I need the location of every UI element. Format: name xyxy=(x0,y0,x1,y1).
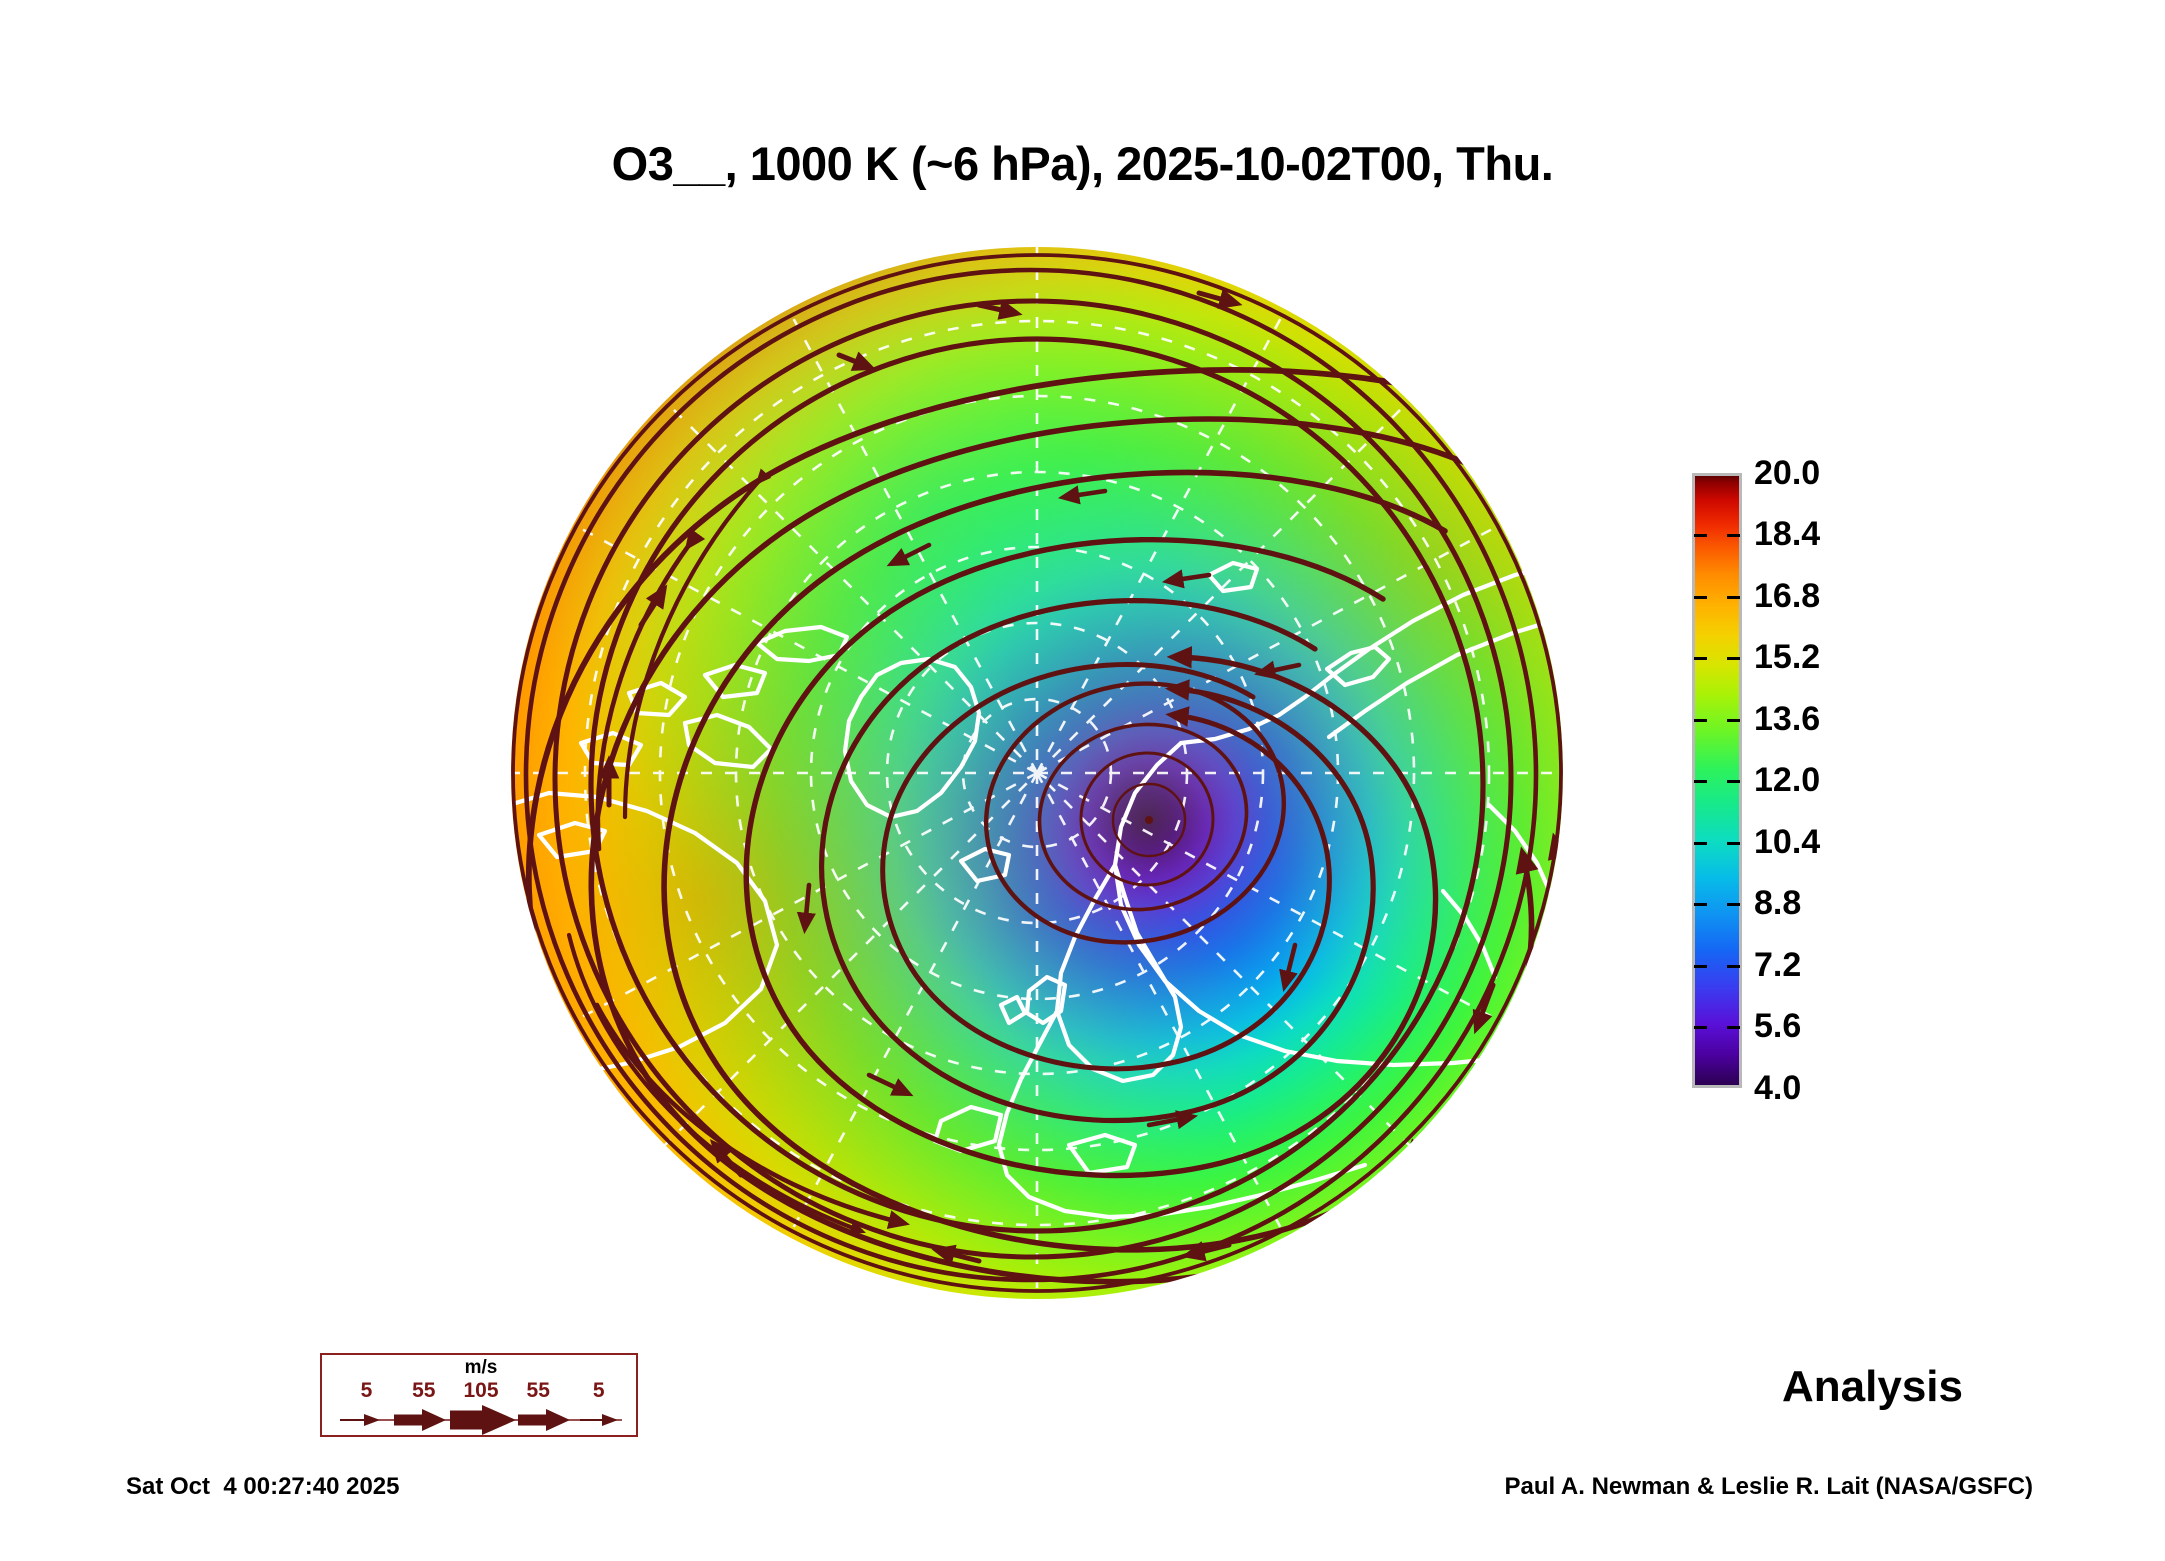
vortex-center-marker xyxy=(1145,816,1153,824)
wind-key-value-3: 55 xyxy=(527,1379,550,1403)
page-title: O3__, 1000 K (~6 hPa), 2025-10-02T00, Th… xyxy=(0,136,2165,191)
wind-speed-key[interactable]: m/s 5 55 105 55 5 xyxy=(320,1353,638,1437)
analysis-label: Analysis xyxy=(1782,1362,1963,1412)
colorbar-label-2: 16.8 xyxy=(1754,574,1820,618)
colorbar-labels: 20.0 18.4 16.8 15.2 13.6 12.0 10.4 8.8 7… xyxy=(1754,451,1934,1111)
wind-key-value-0: 5 xyxy=(361,1379,373,1403)
colorbar-label-10: 4.0 xyxy=(1754,1066,1801,1110)
colorbar-label-7: 8.8 xyxy=(1754,881,1801,925)
wind-key-arrow-scale xyxy=(322,1405,640,1435)
colorbar[interactable]: 20.0 18.4 16.8 15.2 13.6 12.0 10.4 8.8 7… xyxy=(1692,473,1992,1093)
colorbar-label-9: 5.6 xyxy=(1754,1004,1801,1048)
wind-key-value-4: 5 xyxy=(593,1379,605,1403)
colorbar-label-4: 13.6 xyxy=(1754,697,1820,741)
map-field-group xyxy=(509,245,1565,1301)
colorbar-label-8: 7.2 xyxy=(1754,943,1801,987)
wind-key-values: 5 55 105 55 5 xyxy=(322,1379,640,1405)
generation-timestamp: Sat Oct 4 00:27:40 2025 xyxy=(126,1473,400,1501)
wind-key-value-2: 105 xyxy=(463,1379,498,1403)
colorbar-label-0: 20.0 xyxy=(1754,451,1820,495)
colorbar-label-3: 15.2 xyxy=(1754,635,1820,679)
author-credit: Paul A. Newman & Leslie R. Lait (NASA/GS… xyxy=(1504,1473,2033,1501)
wind-key-value-1: 55 xyxy=(412,1379,435,1403)
colorbar-ticks xyxy=(1692,473,1742,1088)
figure-canvas: O3__, 1000 K (~6 hPa), 2025-10-02T00, Th… xyxy=(0,0,2165,1561)
polar-map[interactable] xyxy=(509,245,1565,1301)
polar-map-svg xyxy=(509,245,1565,1301)
colorbar-label-5: 12.0 xyxy=(1754,758,1820,802)
colorbar-label-6: 10.4 xyxy=(1754,820,1820,864)
wind-key-unit-label: m/s xyxy=(322,1357,640,1379)
colorbar-label-1: 18.4 xyxy=(1754,512,1820,556)
